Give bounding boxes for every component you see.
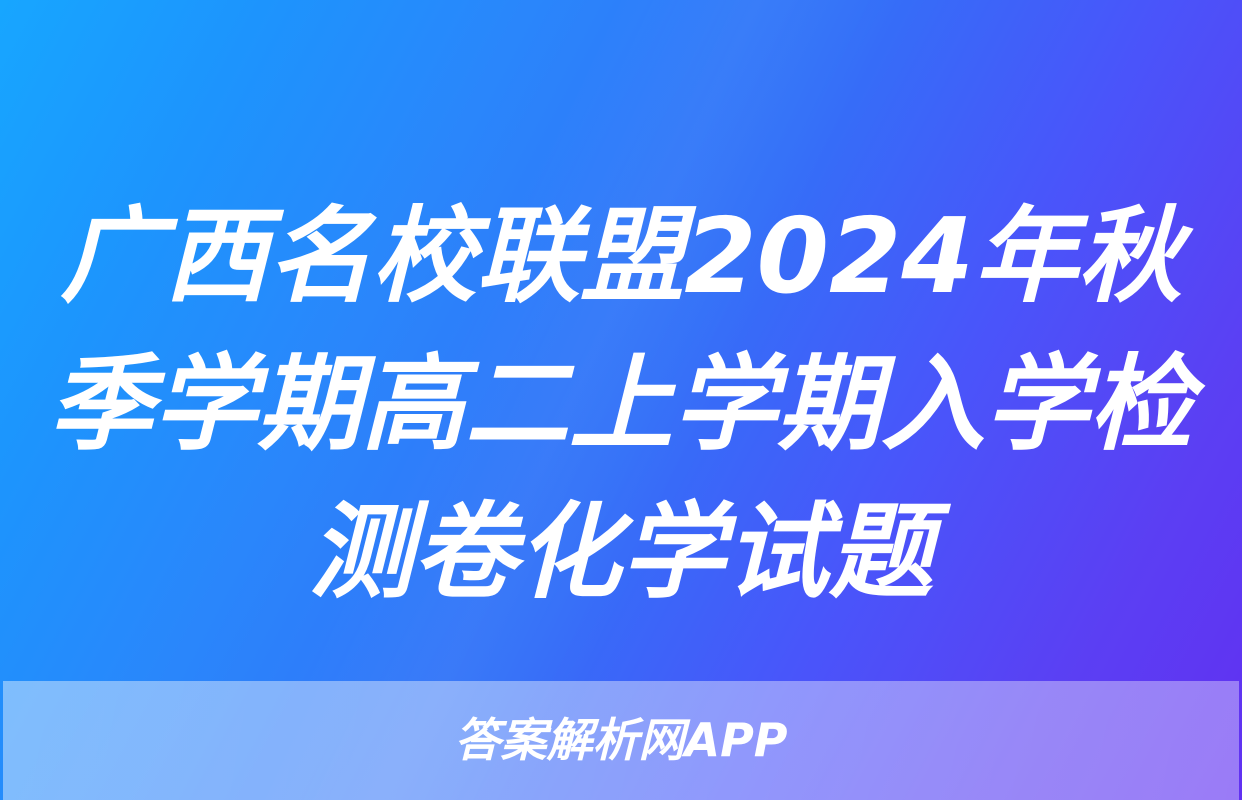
watermark-label: 答案解析网APP: [454, 717, 787, 765]
title-line-2: 季学期高二上学期入学检: [46, 330, 1196, 478]
title-line-1: 广西名校联盟2024年秋: [46, 182, 1196, 330]
title-card: 广西名校联盟2024年秋 季学期高二上学期入学检 测卷化学试题 答案解析网APP: [0, 0, 1242, 800]
title-line-3: 测卷化学试题: [46, 478, 1196, 626]
page-title: 广西名校联盟2024年秋 季学期高二上学期入学检 测卷化学试题: [0, 182, 1242, 626]
footer-watermark-band: 答案解析网APP: [3, 681, 1239, 800]
